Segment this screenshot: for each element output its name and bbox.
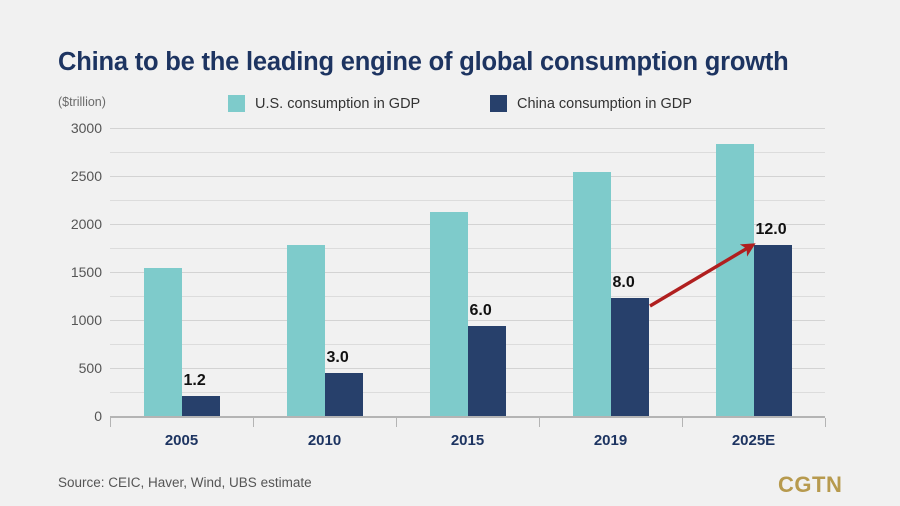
x-axis: 20052010201520192025E [110,418,825,458]
bar-us[interactable] [430,212,468,416]
bar-us[interactable] [144,268,182,416]
bar-group: 8.0 [573,128,649,416]
legend-item-china: China consumption in GDP [490,95,692,112]
x-axis-label: 2025E [732,432,775,449]
x-axis-tick-mark [110,418,111,427]
infographic-canvas: China to be the leading engine of global… [0,0,900,506]
x-axis-tick-mark [682,418,683,427]
x-axis-label: 2019 [594,432,627,449]
y-axis-tick-label: 3000 [42,120,102,136]
x-axis-tick-mark [825,418,826,427]
bar-group: 6.0 [430,128,506,416]
bar-us[interactable] [573,172,611,416]
bar-group: 12.0 [716,128,792,416]
x-axis-label: 2010 [308,432,341,449]
bar-value-label: 3.0 [327,349,349,367]
legend-swatch-china-icon [490,95,507,112]
y-axis-tick-label: 1500 [42,264,102,280]
page-title: China to be the leading engine of global… [58,48,789,77]
bar-value-label: 8.0 [613,274,635,292]
bar-us[interactable] [716,144,754,416]
bar-value-label: 6.0 [470,302,492,320]
x-axis-tick-mark [396,418,397,427]
bar-group: 1.2 [144,128,220,416]
x-axis-label: 2015 [451,432,484,449]
y-axis-tick-labels: 050010001500200025003000 [42,128,102,416]
bar-value-label: 12.0 [756,221,787,239]
source-note: Source: CEIC, Haver, Wind, UBS estimate [58,475,312,490]
x-axis-label: 2005 [165,432,198,449]
plot-area: 1.23.06.08.012.0 [110,128,825,416]
bar-china[interactable] [611,298,649,416]
y-axis-tick-label: 500 [42,360,102,376]
bar-china[interactable] [468,326,506,416]
bar-china[interactable] [182,396,220,416]
y-axis-tick-label: 1000 [42,312,102,328]
y-axis-units-label: ($trillion) [58,95,106,109]
legend-swatch-us-icon [228,95,245,112]
bar-china[interactable] [754,245,792,416]
bar-value-label: 1.2 [184,372,206,390]
x-axis-tick-mark [253,418,254,427]
legend-item-us: U.S. consumption in GDP [228,95,420,112]
bar-us[interactable] [287,245,325,416]
y-axis-tick-label: 2000 [42,216,102,232]
legend-label-us: U.S. consumption in GDP [255,96,420,112]
bar-group: 3.0 [287,128,363,416]
y-axis-tick-label: 0 [42,408,102,424]
bar-china[interactable] [325,373,363,416]
cgtn-logo: CGTN [778,472,842,498]
x-axis-tick-mark [539,418,540,427]
y-axis-tick-label: 2500 [42,168,102,184]
legend-label-china: China consumption in GDP [517,96,692,112]
